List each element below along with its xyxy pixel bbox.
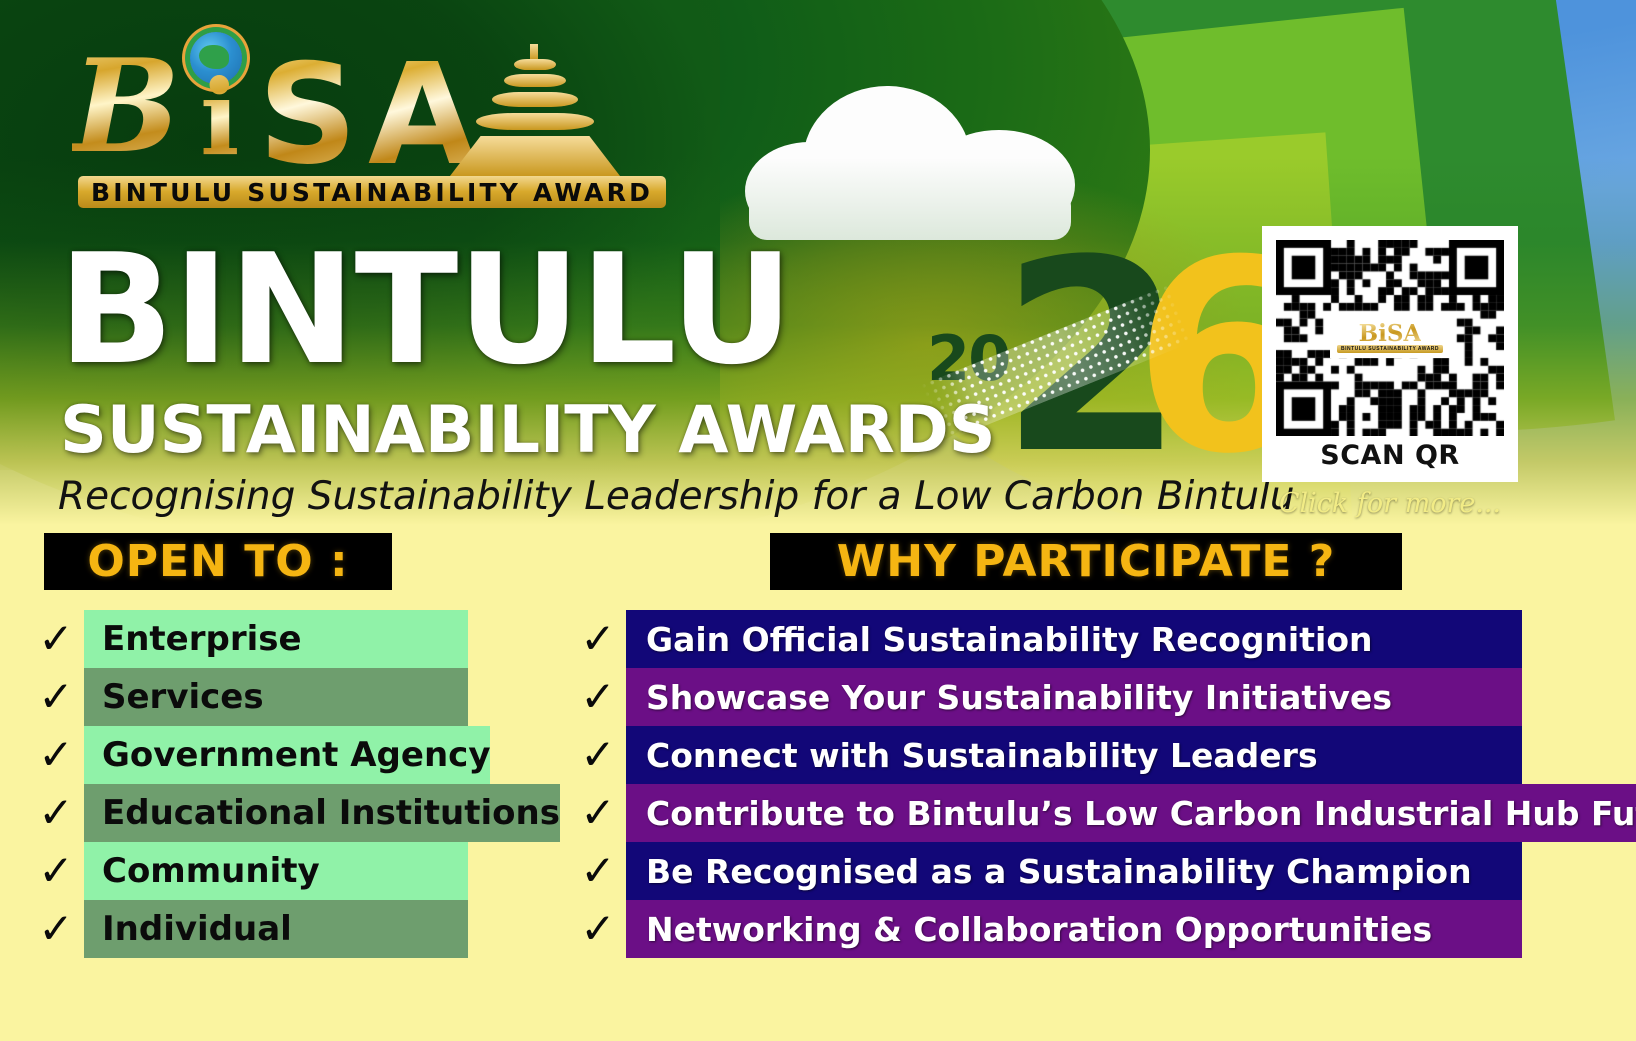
open-to-item-bar: Community: [84, 842, 468, 900]
open-to-item-label: Community: [102, 851, 320, 891]
why-participate-item-label: Be Recognised as a Sustainability Champi…: [646, 852, 1472, 891]
bisa-logo-glyphs: B i S A: [72, 26, 672, 176]
why-participate-item[interactable]: ✓Contribute to Bintulu’s Low Carbon Indu…: [570, 784, 1522, 842]
why-participate-item[interactable]: ✓Showcase Your Sustainability Initiative…: [570, 668, 1522, 726]
check-icon: ✓: [28, 618, 84, 660]
why-participate-item-label: Gain Official Sustainability Recognition: [646, 620, 1373, 659]
why-participate-item-bar: Gain Official Sustainability Recognition: [626, 610, 1522, 668]
page-title: BINTULU: [58, 226, 938, 406]
why-participate-list: ✓Gain Official Sustainability Recognitio…: [570, 610, 1522, 958]
open-to-item[interactable]: ✓Enterprise: [28, 610, 468, 668]
why-participate-item-bar: Showcase Your Sustainability Initiatives: [626, 668, 1522, 726]
why-participate-item[interactable]: ✓Networking & Collaboration Opportunitie…: [570, 900, 1522, 958]
open-to-item-bar: Services: [84, 668, 468, 726]
qr-code-card[interactable]: BiSA BINTULU SUSTAINABILITY AWARD SCAN Q…: [1262, 226, 1518, 482]
why-participate-item-label: Networking & Collaboration Opportunities: [646, 910, 1432, 949]
open-to-item-bar: Educational Institutions: [84, 784, 560, 842]
check-icon: ✓: [28, 908, 84, 950]
qr-center-logo: BiSA BINTULU SUSTAINABILITY AWARD: [1330, 318, 1450, 358]
why-participate-item-label: Connect with Sustainability Leaders: [646, 736, 1318, 775]
open-to-item-bar: Government Agency: [84, 726, 490, 784]
section-header-open-to: OPEN TO :: [44, 533, 392, 590]
logo-wordmark-text: BINTULU SUSTAINABILITY AWARD: [91, 178, 653, 207]
qr-code-image[interactable]: BiSA BINTULU SUSTAINABILITY AWARD: [1276, 240, 1504, 436]
open-to-item-label: Educational Institutions: [102, 793, 560, 833]
open-to-list: ✓Enterprise✓Services✓Government Agency✓E…: [28, 610, 468, 958]
why-participate-item-bar: Be Recognised as a Sustainability Champi…: [626, 842, 1522, 900]
open-to-item[interactable]: ✓Government Agency: [28, 726, 468, 784]
year-badge-2026: 2 6 20: [915, 244, 1215, 494]
check-icon: ✓: [28, 676, 84, 718]
qr-center-logo-strip: BINTULU SUSTAINABILITY AWARD: [1337, 345, 1443, 353]
why-participate-item-label: Showcase Your Sustainability Initiatives: [646, 678, 1392, 717]
why-participate-item-label: Contribute to Bintulu’s Low Carbon Indus…: [646, 794, 1636, 833]
page-subtitle: SUSTAINABILITY AWARDS: [60, 395, 960, 467]
pagoda-tower-icon: [450, 44, 620, 176]
bisa-logo[interactable]: B i S A BINTULU SUSTAINABILITY AWARD: [72, 26, 672, 216]
logo-letter-s: S: [258, 34, 357, 195]
open-to-item-label: Services: [102, 677, 264, 717]
why-participate-item[interactable]: ✓Be Recognised as a Sustainability Champ…: [570, 842, 1522, 900]
why-participate-item-bar: Networking & Collaboration Opportunities: [626, 900, 1522, 958]
open-to-item[interactable]: ✓Services: [28, 668, 468, 726]
open-to-item-label: Government Agency: [102, 735, 490, 775]
section-header-why-participate-label: WHY PARTICIPATE ?: [837, 536, 1336, 587]
section-header-why-participate: WHY PARTICIPATE ?: [770, 533, 1402, 590]
open-to-item-label: Enterprise: [102, 619, 302, 659]
why-participate-item-bar: Contribute to Bintulu’s Low Carbon Indus…: [626, 784, 1636, 842]
open-to-item-label: Individual: [102, 909, 292, 949]
check-icon: ✓: [28, 792, 84, 834]
section-header-open-to-label: OPEN TO :: [87, 536, 348, 587]
check-icon: ✓: [570, 792, 626, 834]
open-to-item[interactable]: ✓Individual: [28, 900, 468, 958]
qr-link-text[interactable]: Click for more...: [1262, 488, 1518, 519]
check-icon: ✓: [570, 850, 626, 892]
check-icon: ✓: [570, 676, 626, 718]
why-participate-item[interactable]: ✓Gain Official Sustainability Recognitio…: [570, 610, 1522, 668]
why-participate-item[interactable]: ✓Connect with Sustainability Leaders: [570, 726, 1522, 784]
open-to-item-bar: Individual: [84, 900, 468, 958]
check-icon: ✓: [28, 734, 84, 776]
check-icon: ✓: [28, 850, 84, 892]
logo-letter-i: i: [200, 56, 240, 179]
logo-letter-b: B: [72, 32, 176, 182]
check-icon: ✓: [570, 734, 626, 776]
year-prefix-label: 20: [927, 322, 1009, 395]
check-icon: ✓: [570, 908, 626, 950]
check-icon: ✓: [570, 618, 626, 660]
open-to-item[interactable]: ✓Educational Institutions: [28, 784, 468, 842]
open-to-item[interactable]: ✓Community: [28, 842, 468, 900]
open-to-item-bar: Enterprise: [84, 610, 468, 668]
logo-wordmark-strip: BINTULU SUSTAINABILITY AWARD: [78, 176, 666, 208]
why-participate-item-bar: Connect with Sustainability Leaders: [626, 726, 1522, 784]
qr-caption: SCAN QR: [1276, 440, 1504, 471]
qr-center-logo-mark: BiSA: [1359, 323, 1422, 345]
